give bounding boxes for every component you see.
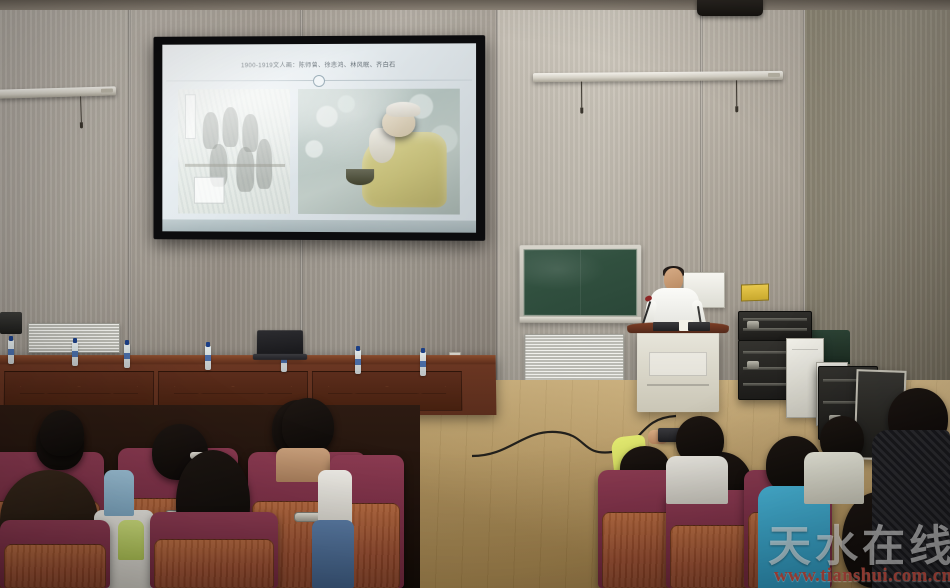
rail-shape (185, 164, 286, 167)
lectern-device-right (688, 322, 710, 331)
board-seam (580, 250, 581, 315)
scroll-shape (185, 94, 196, 138)
ceiling-cap (0, 0, 950, 10)
slide-image-right (298, 89, 460, 215)
table-equipment-box (0, 312, 22, 334)
stage-vent (524, 334, 624, 382)
lectern-trim (647, 384, 709, 386)
ceiling-speaker-icon (697, 0, 763, 16)
roller-pull-cord[interactable] (581, 82, 582, 108)
lectern-front-panel (649, 352, 707, 376)
audience-shirt (104, 470, 134, 516)
chalk-tray (520, 317, 642, 323)
figure-shape (236, 146, 254, 191)
roller-end-cap-icon (101, 88, 113, 92)
equipment-rack (738, 311, 812, 341)
cap-shape (387, 101, 421, 116)
lectern-device-left (653, 322, 679, 331)
projection-screen: 1900-1919文人画：陈师曾、徐悲鸿、林风眠、齐白石 (153, 35, 485, 241)
slide-footer-band (162, 219, 476, 232)
lecture-hall-photo: 1900-1919文人画：陈师曾、徐悲鸿、林风眠、齐白石 (0, 0, 950, 588)
audience-head (40, 410, 84, 456)
audience-shirt (804, 452, 864, 504)
water-bottle (420, 352, 426, 376)
presenter-head (664, 268, 683, 290)
audience-shirt (118, 520, 144, 560)
seat-back-panel (4, 544, 106, 588)
audience-shirt (872, 430, 950, 588)
water-bottle (124, 344, 130, 368)
bowl-shape (346, 169, 373, 185)
projection-screen-surface: 1900-1919文人画：陈师曾、徐悲鸿、林风眠、齐白石 (162, 43, 476, 232)
cabinet-seam (792, 349, 818, 350)
figure-shape (243, 114, 259, 151)
seat[interactable] (0, 520, 110, 588)
wall-notice-sign (741, 284, 769, 302)
water-bottle (72, 342, 78, 366)
audience-head (282, 398, 334, 454)
presentation-slide: 1900-1919文人画：陈师曾、徐悲鸿、林风眠、齐白石 (162, 43, 476, 232)
slide-image-left (178, 89, 290, 214)
circle-bullet-icon (313, 75, 325, 87)
lectern (637, 330, 719, 412)
roller-pull-cord[interactable] (736, 80, 737, 106)
plaque-shape (194, 177, 225, 204)
rack-latch-icon[interactable] (747, 361, 759, 369)
audience-jeans (312, 520, 354, 588)
rack-latch-icon[interactable] (747, 321, 759, 329)
chalkboard-frame (520, 245, 642, 322)
wall-seam (128, 0, 131, 380)
seat-back-panel (154, 539, 274, 588)
figure-shape (223, 107, 239, 147)
roller-end-cap-icon (768, 73, 780, 77)
audience-shirt (666, 456, 728, 504)
laptop-on-table (257, 330, 303, 356)
water-bottle (8, 340, 14, 364)
water-bottle (355, 350, 361, 374)
water-bottle (205, 346, 211, 370)
seat[interactable] (150, 512, 278, 588)
green-chalkboard (523, 249, 637, 316)
slide-body (162, 81, 476, 221)
